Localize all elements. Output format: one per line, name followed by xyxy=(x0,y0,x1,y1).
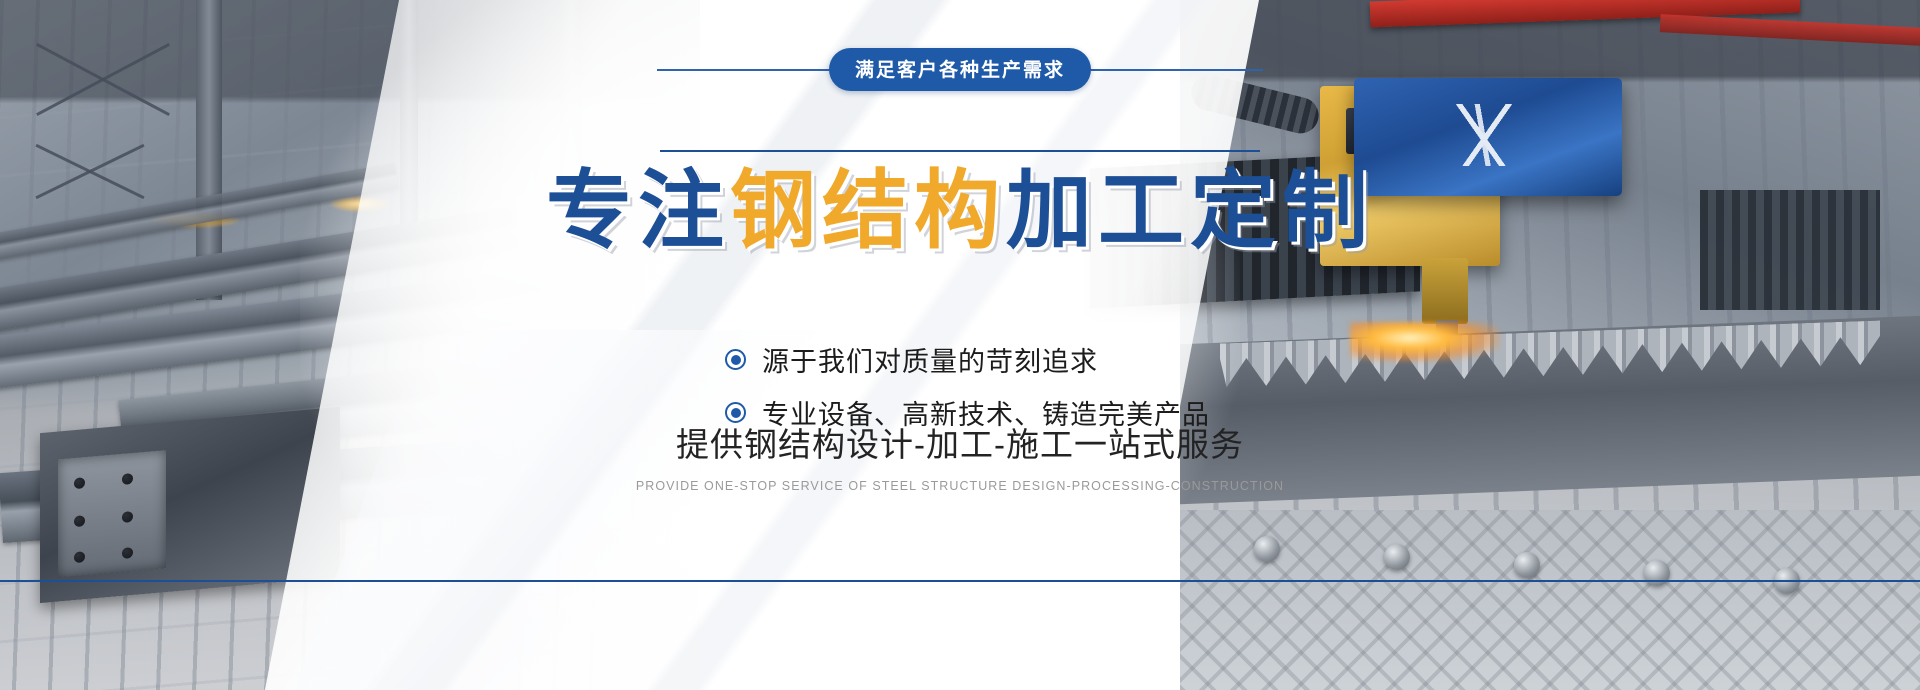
headline-part-2: 钢结构 xyxy=(730,161,1006,261)
headline-part-3: 加工定制 xyxy=(1006,161,1374,261)
badge-rule-left xyxy=(657,69,847,71)
headline-part-1: 专注 xyxy=(546,161,730,261)
footer-slogan-cn: 提供钢结构设计-加工-施工一站式服务 xyxy=(0,418,1920,466)
footer-slogan-en: PROVIDE ONE-STOP SERVICE OF STEEL STRUCT… xyxy=(0,479,1920,493)
tagline-badge: 满足客户各种生产需求 xyxy=(829,48,1091,91)
badge-rule-right xyxy=(1073,69,1263,71)
hero-banner: 满足客户各种生产需求 专注钢结构加工定制 源于我们对质量的苛刻追求 专业设备、高… xyxy=(0,0,1920,690)
footer-slogan-block: 提供钢结构设计-加工-施工一站式服务 PROVIDE ONE-STOP SERV… xyxy=(0,418,1920,493)
list-item-label: 源于我们对质量的苛刻追求 xyxy=(762,340,1098,379)
headline-rule-top xyxy=(660,150,1260,152)
list-item: 源于我们对质量的苛刻追求 xyxy=(725,340,1195,379)
headline-block: 专注钢结构加工定制 xyxy=(0,150,1920,257)
badge-row: 满足客户各种生产需求 xyxy=(0,48,1920,91)
page-title: 专注钢结构加工定制 xyxy=(0,166,1920,257)
banner-content: 满足客户各种生产需求 专注钢结构加工定制 源于我们对质量的苛刻追求 专业设备、高… xyxy=(0,0,1920,690)
circle-dot-icon xyxy=(725,349,746,370)
headline-rule-bottom xyxy=(0,580,1920,582)
